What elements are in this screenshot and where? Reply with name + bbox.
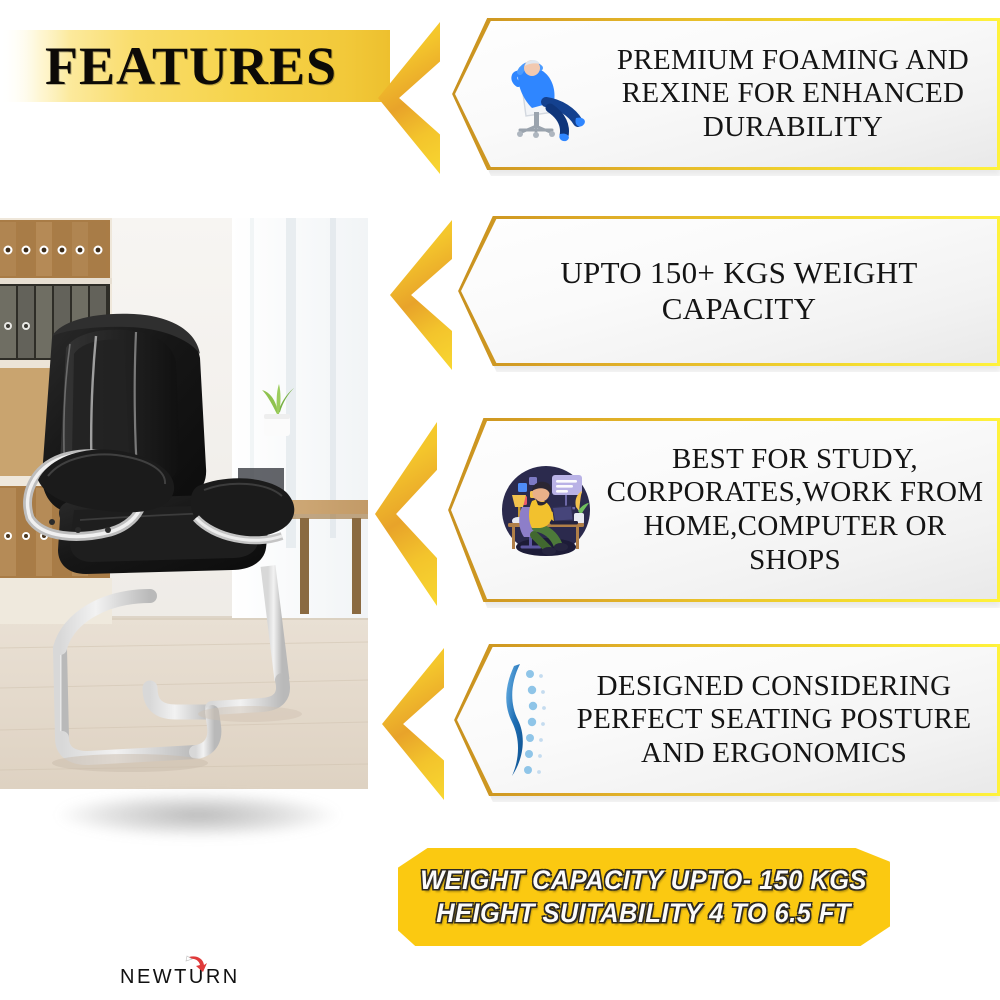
product-photo — [0, 218, 368, 789]
chevron-icon-row-2 — [390, 220, 452, 370]
feature-row-3[interactable]: BEST FOR STUDY, CORPORATES,WORK FROM HOM… — [448, 418, 1000, 602]
feature-row-4-text: DESIGNED CONSIDERING PERFECT SEATING POS… — [554, 670, 1000, 771]
logo-arrow-icon — [183, 953, 209, 979]
person-reclining-in-office-chair-icon — [506, 46, 592, 142]
feature-row-1-text: PREMIUM FOAMING AND REXINE FOR ENHANCED … — [592, 44, 1000, 145]
weight-capacity-line: WEIGHT CAPACITY UPTO- 150 KGS — [421, 865, 868, 896]
features-title-banner: FEATURES — [0, 30, 390, 102]
product-photo-image — [0, 218, 368, 789]
height-suitability-line: HEIGHT SUITABILITY 4 TO 6.5 FT — [437, 898, 852, 929]
weight-height-banner: WEIGHT CAPACITY UPTO- 150 KGS HEIGHT SUI… — [398, 848, 890, 946]
feature-row-3-text: BEST FOR STUDY, CORPORATES,WORK FROM HOM… — [596, 443, 1000, 578]
person-working-at-desk-with-laptop-icon — [496, 455, 596, 565]
page-title: FEATURES — [45, 35, 337, 97]
brand-logo: NEWTURN — [120, 962, 300, 992]
product-photo-drop-shadow — [58, 792, 338, 838]
spine-posture-icon — [498, 660, 554, 780]
infographic-canvas: FEATURES — [0, 0, 1000, 1000]
brand-logo-text: NEWTURN — [120, 966, 240, 989]
feature-row-2[interactable]: UPTO 150+ KGS WEIGHT CAPACITY — [458, 216, 1000, 366]
chevron-icon-row-3 — [375, 422, 437, 606]
feature-row-1[interactable]: PREMIUM FOAMING AND REXINE FOR ENHANCED … — [452, 18, 1000, 170]
feature-row-4[interactable]: DESIGNED CONSIDERING PERFECT SEATING POS… — [454, 644, 1000, 796]
chevron-icon-row-4 — [382, 648, 444, 800]
feature-row-2-text: UPTO 150+ KGS WEIGHT CAPACITY — [498, 255, 986, 327]
